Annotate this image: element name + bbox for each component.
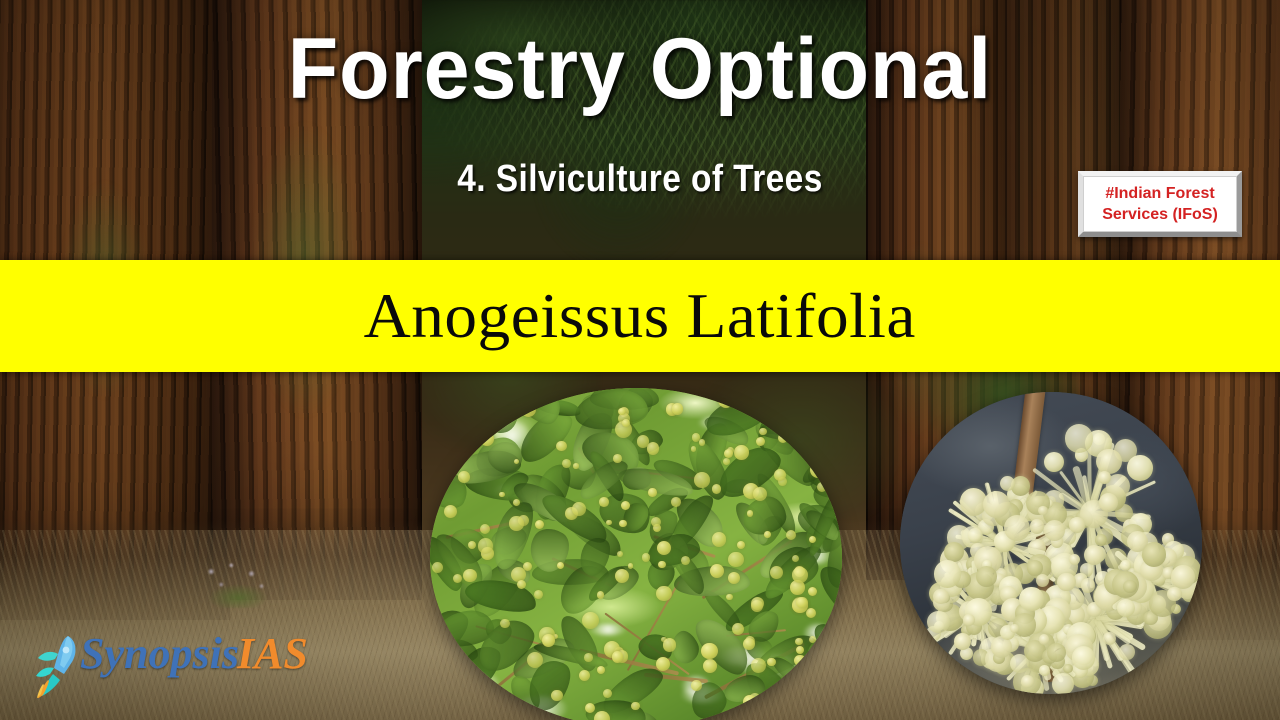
foliage-flower-cluster (795, 436, 806, 447)
foliage-flower-cluster (556, 441, 566, 451)
foliage-flower-cluster (603, 689, 612, 698)
foliage-flower-cluster (613, 454, 622, 463)
foliage-flower-cluster (500, 619, 509, 628)
foliage-flower-cluster (617, 551, 623, 557)
foliage-flower-cluster (615, 569, 629, 583)
foliage-flower-cluster (597, 591, 604, 598)
foliage-flower-cluster (726, 594, 733, 601)
flower-floret (1167, 587, 1181, 601)
flower-floret (1063, 664, 1073, 674)
foliage-flower-cluster (831, 716, 838, 720)
flower-floret (1038, 506, 1047, 515)
flower-floret (1142, 542, 1167, 567)
foliage-flower-cluster (756, 437, 765, 446)
foliage-flower-cluster (606, 520, 612, 526)
foliage-flower-cluster (599, 497, 609, 507)
foliage-flower-cluster (584, 653, 593, 662)
foliage-flower-cluster (767, 658, 776, 667)
foliage-flower-cluster (728, 552, 744, 568)
page-subtitle: 4. Silviculture of Trees (77, 160, 1203, 198)
foliage-flower-cluster (817, 482, 827, 492)
foliage-flower-cluster (513, 499, 520, 506)
ifos-badge-line-2: Services (IFoS) (1102, 204, 1218, 225)
flower-floret (1030, 519, 1044, 533)
logo-wordmark: SynopsisIAS (80, 632, 308, 676)
foliage-flower-cluster (806, 608, 816, 618)
flower-floret (1019, 587, 1043, 611)
foliage-flower-cluster (582, 612, 599, 629)
foliage-flower-cluster (712, 484, 721, 493)
foliage-flower-cluster (723, 458, 730, 465)
foliage-flower-cluster (658, 561, 665, 568)
foliage-flower-cluster (612, 651, 624, 663)
flower-floret (1044, 520, 1065, 541)
flower-floret (1081, 578, 1096, 593)
flower-closeup-photo (900, 392, 1202, 694)
foliage-flower-cluster (701, 643, 718, 660)
foliage-flower-cluster (747, 510, 753, 516)
flower-floret (1072, 646, 1096, 670)
foliage-flower-cluster (495, 393, 507, 405)
foliage-flower-cluster (807, 405, 823, 421)
flower-floret (927, 611, 949, 633)
foliage-flower-cluster (732, 623, 744, 635)
foliage-flower-cluster (631, 702, 640, 711)
foliage-flower-cluster (753, 487, 767, 501)
flower-floret (1117, 599, 1136, 618)
foliage-flower-cluster (751, 658, 766, 673)
flower-floret (963, 614, 975, 626)
species-banner: Anogeissus Latifolia (0, 260, 1280, 372)
foliage-flower-cluster (759, 428, 766, 435)
flower-floret (1039, 634, 1050, 645)
foliage-flower-cluster (572, 502, 586, 516)
flower-floret (976, 566, 997, 587)
foliage-flower-cluster (808, 587, 817, 596)
foliage-flower-cluster (597, 666, 605, 674)
flower-floret (1171, 565, 1195, 589)
foliage-flower-cluster (751, 388, 758, 395)
foliage-flower-cluster (656, 657, 670, 671)
flower-floret (1069, 517, 1085, 533)
flower-floret (1000, 476, 1015, 491)
flower-floret (1123, 580, 1136, 593)
foliage-flower-cluster (786, 530, 796, 540)
foliage-flower-cluster (433, 456, 446, 469)
foliage-flower-cluster (691, 446, 696, 451)
foliage-flower-cluster (728, 572, 740, 584)
flower-floret (1004, 515, 1030, 541)
foliage-flower-cluster (694, 472, 710, 488)
brand-logo[interactable]: SynopsisIAS (24, 628, 344, 700)
flower-floret (1047, 643, 1066, 662)
foliage-flower-cluster (463, 569, 476, 582)
foliage-flower-cluster (637, 435, 649, 447)
foliage-flower-cluster (551, 690, 563, 702)
foliage-flower-cluster (509, 516, 523, 530)
flower-floret (1039, 665, 1050, 676)
foliage-flower-cluster (628, 563, 633, 568)
foliage-photo (430, 388, 842, 720)
flower-floret (1052, 673, 1074, 694)
flower-floret (954, 633, 971, 650)
flower-floret (1084, 545, 1104, 565)
foliage-flower-cluster (651, 517, 661, 527)
foliage-flower-cluster (743, 695, 756, 708)
logo-word-secondary: IAS (237, 629, 308, 678)
foliage-flower-cluster (433, 639, 445, 651)
foliage-flower-cluster (642, 553, 650, 561)
foliage-flower-cluster (743, 638, 755, 650)
foliage-flower-cluster (557, 562, 564, 569)
page-title: Forestry Optional (26, 26, 1255, 112)
flower-floret (1119, 644, 1135, 660)
foliage-flower-cluster (672, 403, 684, 415)
species-name: Anogeissus Latifolia (364, 284, 916, 348)
foliage-flower-cluster (811, 685, 823, 697)
foliage-flower-cluster (594, 711, 610, 720)
foliage-flower-cluster (691, 680, 702, 691)
flower-floret (933, 589, 949, 605)
flower-floret (1065, 424, 1094, 453)
foliage-flower-cluster (699, 439, 705, 445)
foliage-flower-cluster (663, 638, 677, 652)
foliage-flower-cluster (499, 492, 504, 497)
flower-floret (1096, 449, 1121, 474)
foliage-flower-cluster (478, 538, 493, 553)
foliage-flower-cluster (573, 463, 578, 468)
foliage-flower-cluster (522, 397, 537, 412)
foliage-flower-cluster (648, 488, 657, 497)
foliage-flower-cluster (764, 531, 771, 538)
foliage-flower-cluster (480, 432, 494, 446)
flower-floret (968, 528, 982, 542)
foliage-flower-cluster (818, 446, 827, 455)
foliage-flower-cluster (546, 715, 555, 720)
flower-floret (934, 560, 961, 587)
flower-floret (1021, 675, 1034, 688)
logo-word-primary: Synopsis (80, 629, 239, 678)
foliage-flower-cluster (527, 652, 543, 668)
flower-floret (1099, 493, 1119, 513)
foliage-flower-cluster (542, 634, 555, 647)
foliage-flower-cluster (476, 683, 481, 688)
flower-floret (1127, 455, 1153, 481)
flower-floret (1095, 534, 1107, 546)
foliage-flower-cluster (437, 691, 443, 697)
foliage-flower-cluster (778, 433, 788, 443)
flower-floret (944, 542, 964, 562)
ifos-badge: #Indian Forest Services (IFoS) (1078, 171, 1242, 237)
slide-canvas: Forestry Optional 4. Silviculture of Tre… (0, 0, 1280, 720)
flower-floret (1069, 554, 1080, 565)
ifos-badge-line-1: #Indian Forest (1105, 183, 1214, 204)
foliage-flower-cluster (466, 389, 478, 401)
flower-floret (1103, 632, 1116, 645)
